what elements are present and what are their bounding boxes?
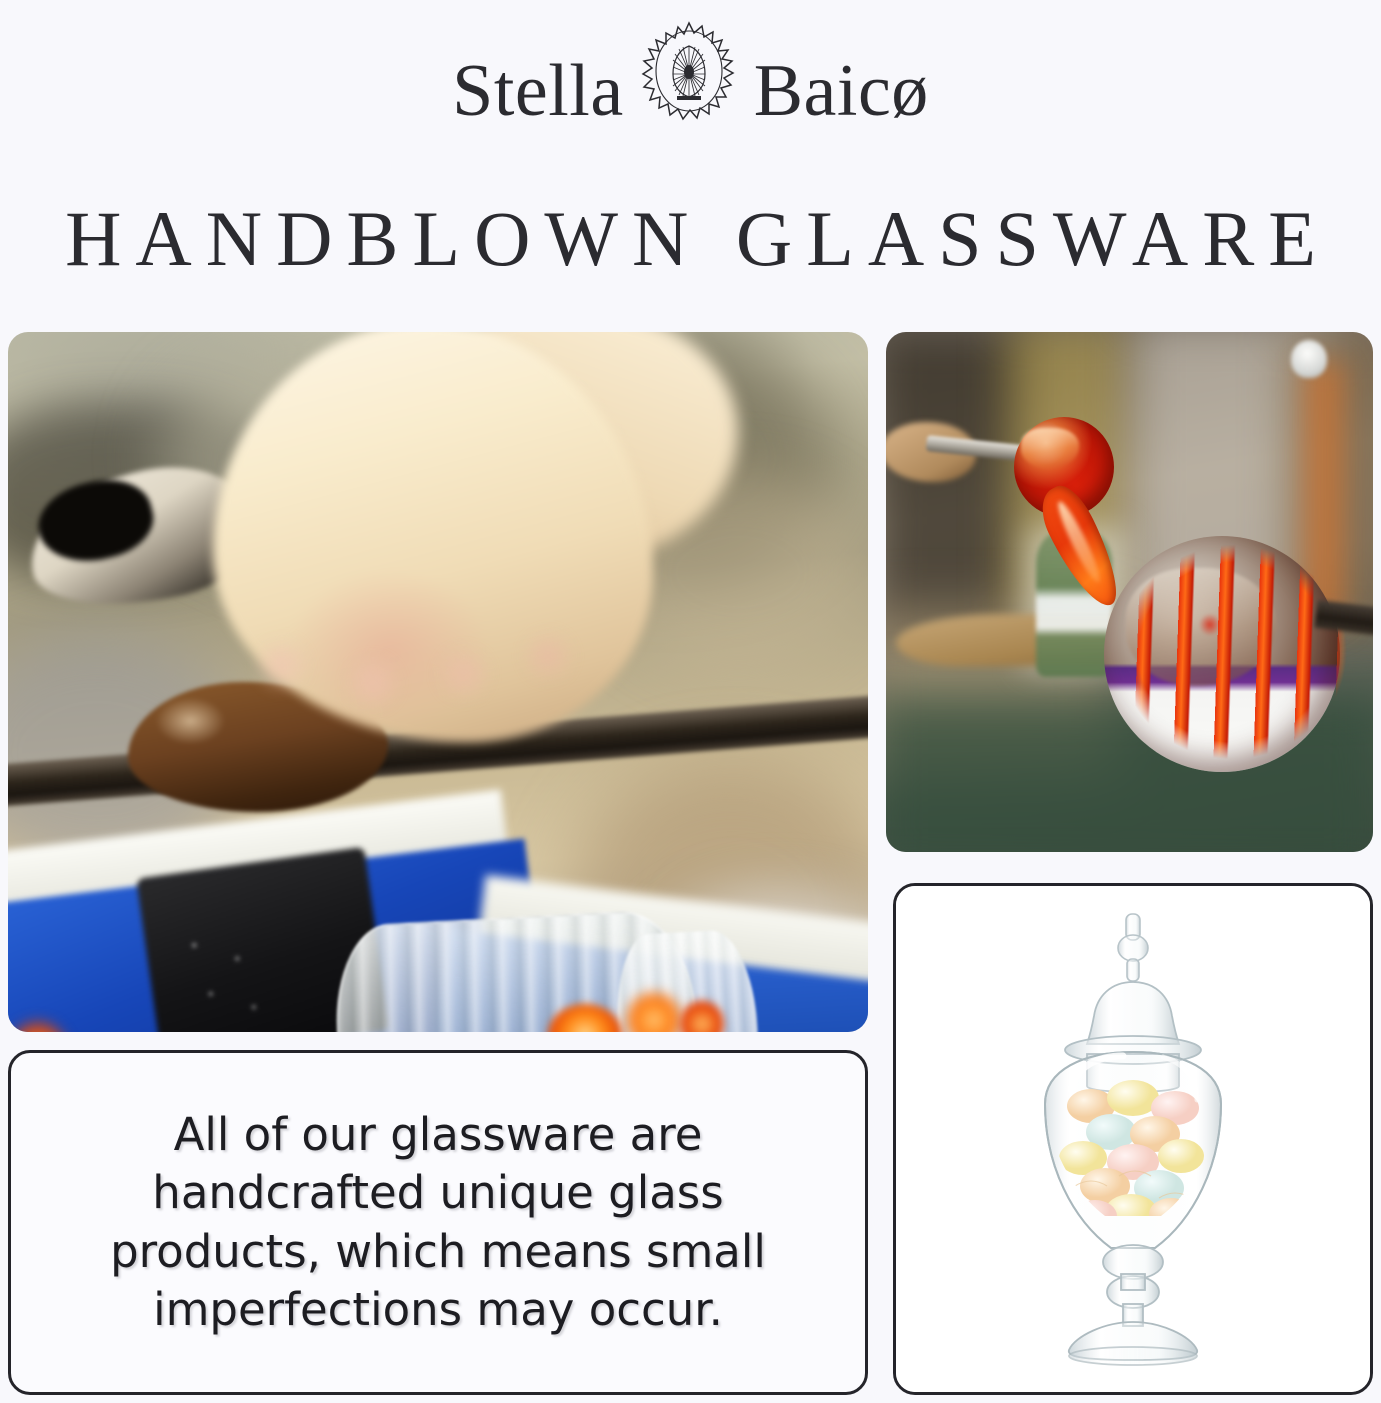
jar-foot <box>1069 1322 1197 1365</box>
device-dots <box>175 914 311 1032</box>
emblem-base <box>677 96 701 100</box>
emblem-center-dot <box>684 65 694 79</box>
disclaimer-card-inner: All of our glassware are handcrafted uni… <box>11 1053 865 1392</box>
knuckles <box>233 587 583 737</box>
flyer-root: Stella <box>0 0 1381 1403</box>
jar-finial <box>1118 914 1148 981</box>
disclaimer-text: All of our glassware are handcrafted uni… <box>51 1106 825 1340</box>
jar-stem <box>1103 1245 1163 1326</box>
starburst-oval-emblem <box>630 20 748 162</box>
apothecary-jar-illustration <box>983 904 1283 1374</box>
page-title: HANDBLOWN GLASSWARE <box>0 200 1381 278</box>
disclaimer-card: All of our glassware are handcrafted uni… <box>8 1050 868 1395</box>
glassblower-hand-on-blowpipe-photo <box>8 332 868 1032</box>
apothecary-jar-product-photo <box>893 883 1373 1395</box>
brand-logo: Stella <box>0 16 1381 166</box>
brand-word-right: Baicø <box>754 54 929 128</box>
jar-stage <box>896 886 1370 1392</box>
brand-word-left: Stella <box>452 54 624 128</box>
ceiling-lamp <box>1291 340 1327 378</box>
molten-glass-trailing-photo <box>886 332 1373 852</box>
